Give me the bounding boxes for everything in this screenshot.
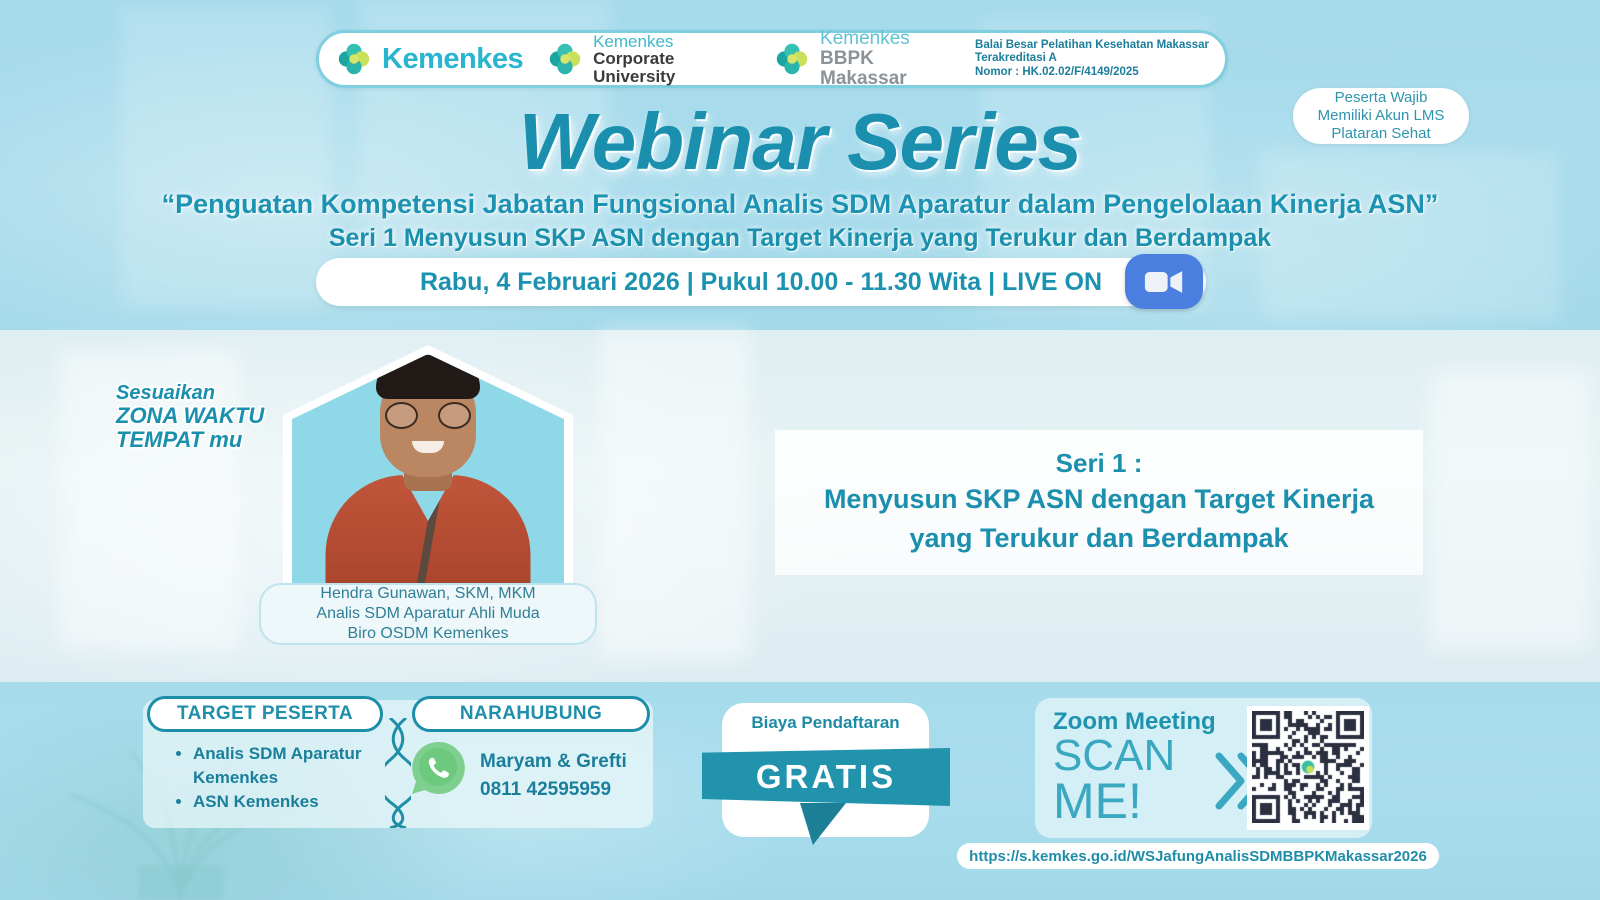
scan-qr-card: Zoom Meeting SCAN ME! [1035,698,1372,838]
cu-line1: Kemenkes [593,33,750,51]
speaker-name-card: Hendra Gunawan, SKM, MKM Analis SDM Apar… [259,583,597,645]
target-heading-label: TARGET PESERTA [177,703,353,725]
accreditation-line1: Balai Besar Pelatihan Kesehatan Makassar [975,39,1209,53]
contact-heading-label: NARAHUBUNG [460,703,602,725]
schedule-text: Rabu, 4 Februari 2026 | Pukul 10.00 - 11… [420,268,1102,297]
zoom-video-icon [1125,254,1203,309]
registration-url: https://s.kemkes.go.id/WSJafungAnalisSDM… [969,848,1427,865]
contact-names: Maryam & Grefti [480,748,627,776]
topic-line2: yang Terukur dan Berdampak [909,521,1288,557]
page-title: Webinar Series [0,96,1600,188]
accreditation-line2: Terakreditasi A [975,52,1209,66]
topic-panel: Seri 1 : Menyusun SKP ASN dengan Target … [775,430,1423,575]
contact-heading: NARAHUBUNG [412,696,650,732]
kemenkes-pinwheel-icon [773,40,811,78]
fee-label: Biaya Pendaftaran [722,713,929,733]
bbpk-line1: Kemenkes [820,29,956,49]
kemenkes-pinwheel-icon [546,40,584,78]
speaker-role: Analis SDM Aparatur Ahli Muda [316,604,539,624]
logo-corporate-university: Kemenkes Corporate University [593,33,750,86]
contact-details: Maryam & Grefti 0811 42595959 [480,748,627,803]
speaker-name: Hendra Gunawan, SKM, MKM [320,584,535,604]
logo-bbpk-makassar: Kemenkes BBPK Makassar [820,29,956,88]
registration-url-bar[interactable]: https://s.kemkes.go.id/WSJafungAnalisSDM… [957,843,1439,869]
accreditation-text: Balai Besar Pelatihan Kesehatan Makassar… [975,39,1209,80]
registration-fee-card: Biaya Pendaftaran GRATIS [722,703,929,837]
scan-line1: SCAN [1053,734,1175,778]
kemenkes-pinwheel-icon [335,40,373,78]
accreditation-line3: Nomor : HK.02.02/F/4149/2025 [975,66,1209,80]
logo-kemenkes-label: Kemenkes [382,43,523,76]
timezone-note: Sesuaikan ZONA WAKTU TEMPAT mu [116,382,296,452]
page-subtitle-series: Seri 1 Menyusun SKP ASN dengan Target Ki… [0,224,1600,253]
timezone-line2: ZONA WAKTU [116,404,296,428]
webinar-flyer: Kemenkes Kemenkes Corporate University K… [0,0,1600,900]
target-participants-heading: TARGET PESERTA [147,696,383,732]
speaker-org: Biro OSDM Kemenkes [348,624,509,644]
contact-phone: 0811 42595959 [480,776,627,804]
organization-logo-bar: Kemenkes Kemenkes Corporate University K… [316,30,1228,88]
speaker-photo-frame [283,345,573,595]
fee-ribbon: GRATIS [702,748,950,806]
bbpk-line2: BBPK Makassar [820,49,956,89]
dna-helix-divider-icon [385,718,411,828]
whatsapp-icon [410,740,466,796]
fee-value: GRATIS [756,758,896,796]
schedule-bar: Rabu, 4 Februari 2026 | Pukul 10.00 - 11… [316,258,1206,306]
cu-line2: Corporate University [593,50,750,85]
topic-series: Seri 1 : [1056,448,1143,479]
topic-line1: Menyusun SKP ASN dengan Target Kinerja [824,482,1374,518]
timezone-line1: Sesuaikan [116,382,296,404]
speaker-portrait [292,354,564,595]
timezone-line3: TEMPAT mu [116,428,296,452]
scan-line2: ME! [1053,776,1142,826]
qr-code[interactable] [1247,706,1369,830]
page-subtitle: “Penguatan Kompetensi Jabatan Fungsional… [0,189,1600,220]
